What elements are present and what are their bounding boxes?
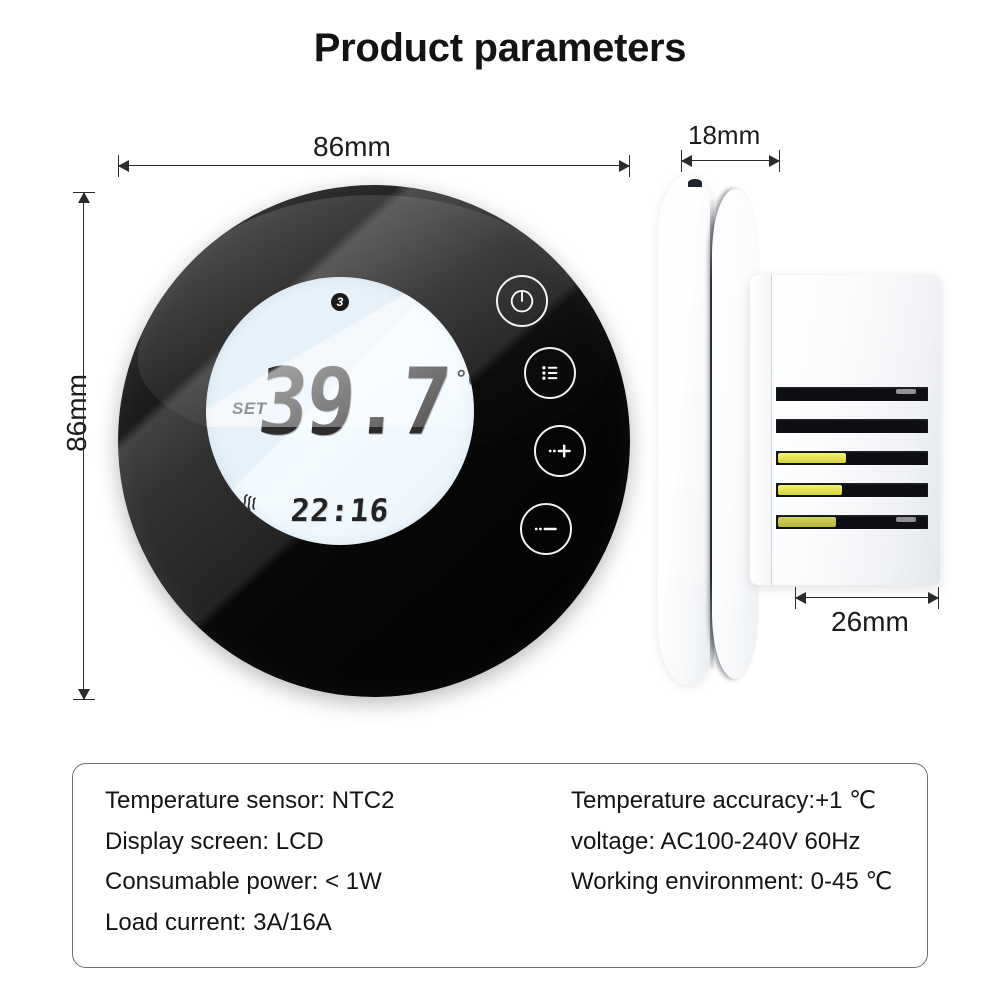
side-bezel-outer [658,175,718,685]
thermostat-front-view: 3 SET 39.7 °C 22:16 [118,185,630,697]
spec-line: Temperature sensor: NTC2 [105,786,571,817]
spec-line: Working environment: 0-45 ℃ [571,867,907,898]
dimension-arrow-front-width [118,160,630,172]
terminal-slot [776,451,928,465]
spec-line: Consumable power: < 1W [105,867,571,898]
thermostat-side-view [650,165,950,695]
mode-day-badge: 3 [331,293,349,311]
terminal-slot [776,515,928,529]
rear-housing-edge [750,275,772,585]
dimension-arrow-front-height [78,192,90,700]
product-parameters-page: Product parameters 86mm 86mm 18mm 26mm 3… [0,0,1000,1000]
dimension-label-front-depth: 18mm [688,120,760,151]
power-button[interactable] [496,275,548,327]
spec-column-right: Temperature accuracy:+1 ℃ voltage: AC100… [571,786,907,951]
dimension-label-front-width: 86mm [313,131,391,163]
clock-time: 22:16 [289,493,390,529]
terminal-slot [776,419,928,433]
terminal-slot [776,387,928,401]
lcd-screen: 3 SET 39.7 °C 22:16 [206,277,474,545]
temperature-unit: °C [454,369,474,391]
specifications-box: Temperature sensor: NTC2 Display screen:… [72,763,928,968]
heat-wave-icon [236,489,264,517]
decrease-button[interactable] [520,503,572,555]
increase-button[interactable] [534,425,586,477]
spec-line: Display screen: LCD [105,827,571,858]
spec-column-left: Temperature sensor: NTC2 Display screen:… [105,786,571,951]
page-title: Product parameters [0,26,1000,71]
bezel-nub-icon [688,179,702,187]
spec-line: Load current: 3A/16A [105,908,571,939]
temperature-value: 39.7 [255,365,451,440]
menu-button[interactable] [524,347,576,399]
spec-line: voltage: AC100-240V 60Hz [571,827,907,858]
terminal-slot [776,483,928,497]
temperature-readout: 39.7 °C [262,365,474,432]
spec-line: Temperature accuracy:+1 ℃ [571,786,907,817]
